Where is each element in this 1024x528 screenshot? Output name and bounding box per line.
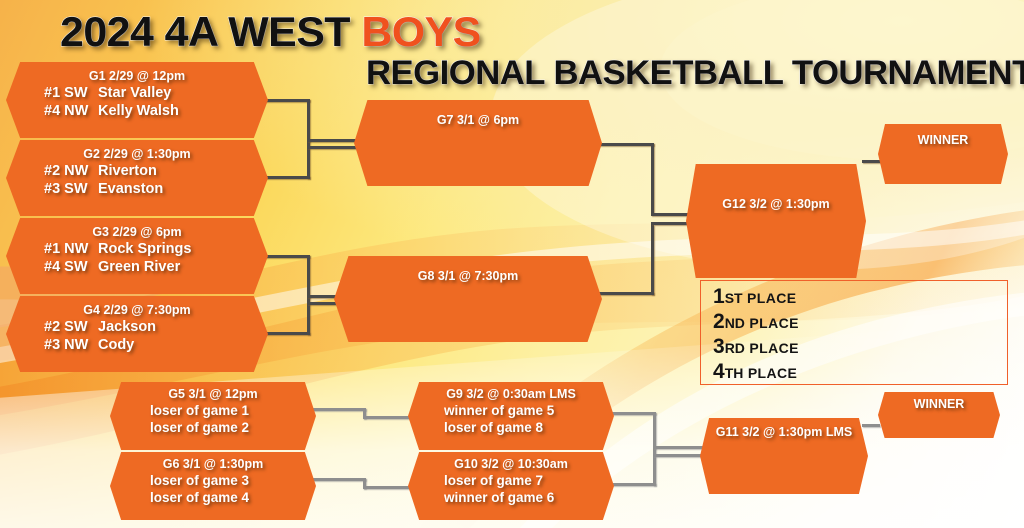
g12-header: G12 3/2 @ 1:30pm	[686, 196, 866, 212]
g4-team2-name: Cody	[98, 337, 134, 353]
game-box-g9[interactable]: G9 3/2 @ 0:30am LMS winner of game 5 los…	[408, 382, 614, 450]
g5-team2-name: loser of game 2	[110, 419, 316, 436]
connector-g6-to-g10	[308, 478, 416, 492]
placement-1-number: 1	[713, 285, 725, 308]
g9-header: G9 3/2 @ 0:30am LMS	[408, 386, 614, 402]
placement-row-4: 4TH PLACE	[713, 360, 797, 384]
g8-header: G8 3/1 @ 7:30pm	[334, 268, 602, 284]
page-title-line1: 2024 4A WEST BOYS	[60, 11, 481, 53]
g10-header: G10 3/2 @ 10:30am	[408, 456, 614, 472]
connector-g9-g10-to-g11	[600, 412, 704, 486]
page-title-line2: REGIONAL BASKETBALL TOURNAMENT	[366, 56, 1024, 90]
title-accent-text: BOYS	[361, 8, 480, 55]
placement-3-word: PLACE	[749, 340, 798, 356]
g5-header: G5 3/1 @ 12pm	[110, 386, 316, 402]
winner-consolation-label: WINNER	[878, 396, 1000, 412]
g6-team2-name: loser of game 4	[110, 489, 316, 506]
g1-team1-seed: #1 SW	[44, 84, 98, 102]
connector-g7-g8-to-g12	[592, 143, 702, 295]
game-box-g3[interactable]: G3 2/29 @ 6pm #1 NWRock Springs #4 SWGre…	[6, 218, 268, 294]
placement-3-suffix: RD	[725, 340, 745, 356]
game-box-g10[interactable]: G10 3/2 @ 10:30am loser of game 7 winner…	[408, 452, 614, 520]
g1-team2-name: Kelly Walsh	[98, 103, 179, 119]
connector-g1-g2-to-g7	[258, 99, 368, 179]
g4-team2-seed: #3 NW	[44, 336, 98, 354]
g2-team1-seed: #2 NW	[44, 162, 98, 180]
placement-1-suffix: ST	[725, 290, 743, 306]
game-box-g7[interactable]: G7 3/1 @ 6pm	[354, 100, 602, 186]
placement-2-word: PLACE	[749, 315, 798, 331]
title-main-text: 2024 4A WEST	[60, 8, 361, 55]
g3-team1-name: Rock Springs	[98, 241, 191, 257]
g1-team2-seed: #4 NW	[44, 102, 98, 120]
game-box-g8[interactable]: G8 3/1 @ 7:30pm	[334, 256, 602, 342]
g5-team1-name: loser of game 1	[110, 402, 316, 419]
game-box-g4[interactable]: G4 2/29 @ 7:30pm #2 SWJackson #3 NWCody	[6, 296, 268, 372]
game-box-g5[interactable]: G5 3/1 @ 12pm loser of game 1 loser of g…	[110, 382, 316, 450]
g2-team2-seed: #3 SW	[44, 180, 98, 198]
g1-header: G1 2/29 @ 12pm	[6, 68, 268, 84]
g6-team1-name: loser of game 3	[110, 472, 316, 489]
g3-team2-seed: #4 SW	[44, 258, 98, 276]
g4-team1-seed: #2 SW	[44, 318, 98, 336]
placement-2-number: 2	[713, 310, 725, 333]
g2-header: G2 2/29 @ 1:30pm	[6, 146, 268, 162]
connector-g5-to-g9	[308, 408, 416, 422]
g1-team1-name: Star Valley	[98, 85, 171, 101]
game-box-g11[interactable]: G11 3/2 @ 1:30pm LMS	[700, 418, 868, 494]
winner-championship-label: WINNER	[878, 132, 1008, 148]
placement-row-3: 3RD PLACE	[713, 335, 799, 359]
placement-row-2: 2ND PLACE	[713, 310, 799, 334]
g3-team1-seed: #1 NW	[44, 240, 98, 258]
placement-1-word: PLACE	[747, 290, 796, 306]
g11-header: G11 3/2 @ 1:30pm LMS	[700, 424, 868, 440]
g10-team1-name: loser of game 7	[408, 472, 614, 489]
g3-header: G3 2/29 @ 6pm	[6, 224, 268, 240]
placement-3-number: 3	[713, 335, 725, 358]
winner-box-consolation[interactable]: WINNER	[878, 392, 1000, 438]
placement-4-number: 4	[713, 360, 725, 383]
game-box-g2[interactable]: G2 2/29 @ 1:30pm #2 NWRiverton #3 SWEvan…	[6, 140, 268, 216]
g2-team2-name: Evanston	[98, 181, 163, 197]
g7-header: G7 3/1 @ 6pm	[354, 112, 602, 128]
placement-4-suffix: TH	[725, 365, 744, 381]
g6-header: G6 3/1 @ 1:30pm	[110, 456, 316, 472]
placement-row-1: 1ST PLACE	[713, 285, 796, 309]
winner-box-championship[interactable]: WINNER	[878, 124, 1008, 184]
game-box-g12[interactable]: G12 3/2 @ 1:30pm	[686, 164, 866, 278]
g9-team1-name: winner of game 5	[408, 402, 614, 419]
placement-4-word: PLACE	[748, 365, 797, 381]
game-box-g6[interactable]: G6 3/1 @ 1:30pm loser of game 3 loser of…	[110, 452, 316, 520]
g3-team2-name: Green River	[98, 259, 180, 275]
g9-team2-name: loser of game 8	[408, 419, 614, 436]
connector-g11-to-winner	[862, 424, 880, 430]
g2-team1-name: Riverton	[98, 163, 157, 179]
bracket-poster: 2024 4A WEST BOYS REGIONAL BASKETBALL TO…	[0, 0, 1024, 528]
placement-results-box: 1ST PLACE 2ND PLACE 3RD PLACE 4TH PLACE	[700, 280, 1008, 385]
g10-team2-name: winner of game 6	[408, 489, 614, 506]
g4-header: G4 2/29 @ 7:30pm	[6, 302, 268, 318]
placement-2-suffix: ND	[725, 315, 745, 331]
g4-team1-name: Jackson	[98, 319, 156, 335]
game-box-g1[interactable]: G1 2/29 @ 12pm #1 SWStar Valley #4 NWKel…	[6, 62, 268, 138]
